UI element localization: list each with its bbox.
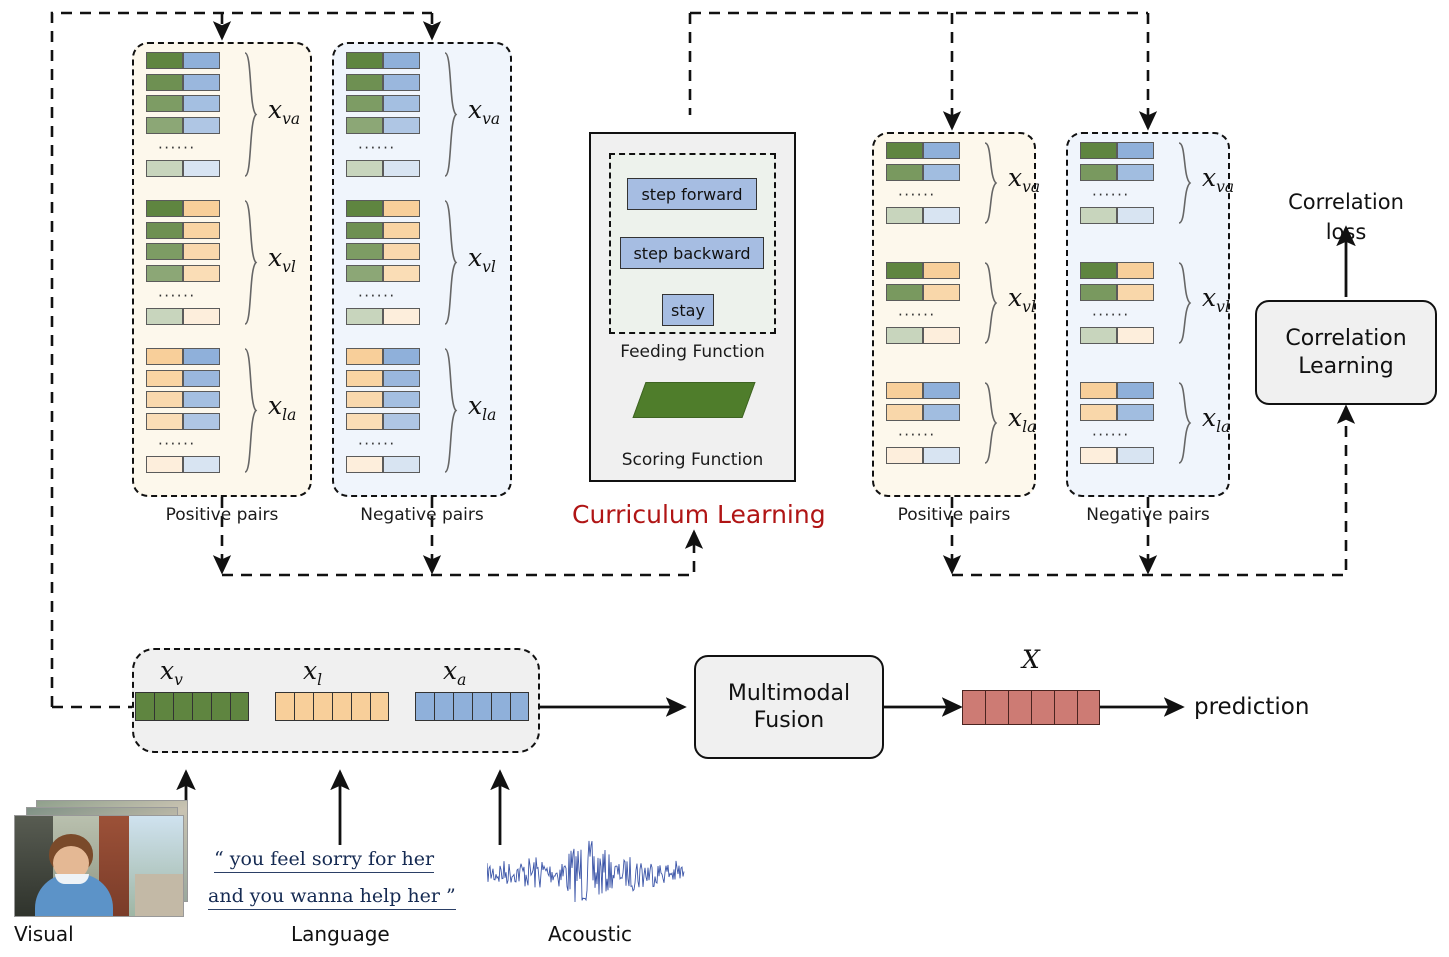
pair-cell [1080,284,1117,301]
correlation-learning-box[interactable]: Correlation Learning [1255,300,1437,405]
vector-cell [472,692,491,721]
feature-vector-xa[interactable] [415,692,529,721]
pair-cell [146,391,183,408]
pair-cell [183,456,220,473]
pair-cell [886,382,923,399]
group-brace [244,200,258,325]
pair-cell [183,74,220,91]
pair-row [346,391,420,408]
pair-cell [346,160,383,177]
pair-cell [923,447,960,464]
fused-vector-label: X [1022,645,1040,674]
waveform-svg [487,838,685,908]
pair-cell [383,243,420,260]
scoring-function-shape [632,382,755,418]
vector-cell [230,692,249,721]
pair-cell [1117,447,1154,464]
row-ellipsis: ······ [158,437,196,452]
vector-cell [192,692,211,721]
pair-cell [346,308,383,325]
pair-cell [1117,284,1154,301]
fused-vector-cell [1077,690,1100,725]
pair-row [346,52,420,69]
pair-cell [183,200,220,217]
pair-row [1080,164,1154,181]
pair-cell [146,160,183,177]
pair-cell [346,413,383,430]
pair-row [886,382,960,399]
pair-row-faded [886,327,960,344]
vector-cell [313,692,332,721]
pair-cell [383,117,420,134]
row-ellipsis: ······ [158,289,196,304]
vector-cell [135,692,154,721]
pair-cell [1117,142,1154,159]
pair-cell [1117,404,1154,421]
modality-label-la: xla [468,391,496,424]
pair-cell [1117,207,1154,224]
pair-cell [923,327,960,344]
pair-cell [183,160,220,177]
pair-row [886,284,960,301]
pair-row [146,200,220,217]
pair-row-faded [1080,447,1154,464]
modality-label-vl: xvl [1202,283,1230,316]
pair-cell [923,164,960,181]
pair-cell [383,413,420,430]
pair-cell [886,207,923,224]
step-backward-button[interactable]: step backward [620,237,764,269]
pair-row [1080,382,1154,399]
pair-row [346,95,420,112]
group-brace [1178,262,1192,344]
fused-vector-cell [1008,690,1031,725]
fused-vector-cell [985,690,1008,725]
pair-cell [183,391,220,408]
scoring-function-label: Scoring Function [589,450,796,470]
row-ellipsis: ······ [898,428,936,443]
group-brace [444,348,458,473]
correlation-learning-line2: Learning [1285,353,1406,381]
pair-cell [1080,382,1117,399]
pair-cell [146,95,183,112]
acoustic-waveform [487,838,685,908]
pair-cell [346,117,383,134]
pair-cell [923,284,960,301]
correlation-loss-line1: Correlation [1255,190,1437,214]
pair-cell [1117,327,1154,344]
pair-row-faded [1080,327,1154,344]
pair-row-faded [886,447,960,464]
correlation-learning-line1: Correlation [1285,325,1406,353]
curriculum-learning-title: Curriculum Learning [572,500,826,529]
vector-cell [491,692,510,721]
pair-cell [383,52,420,69]
pair-cell [886,327,923,344]
pair-cell [183,243,220,260]
group-brace [984,262,998,344]
multimodal-fusion-box[interactable]: Multimodal Fusion [694,655,884,759]
vector-cell [370,692,389,721]
pair-cell [146,52,183,69]
pair-row [146,243,220,260]
pair-cell [183,95,220,112]
pair-cell [146,413,183,430]
pair-row-faded [146,456,220,473]
acoustic-label: Acoustic [548,922,632,946]
pair-cell [383,74,420,91]
modality-label-va: xva [268,95,300,128]
pair-cell [346,391,383,408]
pair-row [346,117,420,134]
pair-cell [346,95,383,112]
pair-row [1080,262,1154,279]
row-ellipsis: ······ [1092,428,1130,443]
pair-cell [346,200,383,217]
vector-cell [154,692,173,721]
group-brace [244,348,258,473]
pair-cell [383,370,420,387]
vector-cell [294,692,313,721]
pair-row [346,370,420,387]
pair-cell [886,142,923,159]
pair-cell [346,74,383,91]
fused-vector-cell [1031,690,1054,725]
vector-cell [332,692,351,721]
modality-label-la: xla [268,391,296,424]
group-brace [444,200,458,325]
modality-label-vl: xvl [468,243,496,276]
group-brace [984,142,998,224]
pair-cell [1080,327,1117,344]
pair-row-faded [346,456,420,473]
row-ellipsis: ······ [1092,308,1130,323]
vector-cell [211,692,230,721]
pair-cell [346,52,383,69]
pair-cell [923,262,960,279]
feeding-function-label: Feeding Function [589,342,796,362]
pair-row [886,262,960,279]
pair-row [146,95,220,112]
vector-cell [510,692,529,721]
group-brace [244,52,258,177]
pair-cell [383,265,420,282]
correlation-loss-line2: loss [1255,220,1437,244]
modality-label-la: xla [1008,403,1036,436]
pair-cell [1080,262,1117,279]
pair-cell [346,243,383,260]
pair-row [1080,404,1154,421]
pair-row [146,265,220,282]
row-ellipsis: ······ [1092,188,1130,203]
pair-cell [183,52,220,69]
pair-row [146,222,220,239]
pair-cell [346,456,383,473]
pair-cell [1080,447,1117,464]
pair-row [886,164,960,181]
row-ellipsis: ······ [898,188,936,203]
pair-row [1080,142,1154,159]
modality-label-vl: xvl [1008,283,1036,316]
row-ellipsis: ······ [358,289,396,304]
pair-cell [346,222,383,239]
feature-vector-xv[interactable] [135,692,249,721]
language-label: Language [291,922,390,946]
step-forward-button[interactable]: step forward [627,178,757,210]
fusion-line2: Fusion [728,707,850,735]
visual-label: Visual [14,922,74,946]
pair-cell [1080,207,1117,224]
modality-label-va: xva [1202,163,1234,196]
vector-cell [351,692,370,721]
pair-cell [1080,164,1117,181]
pair-row [146,391,220,408]
pair-row [346,348,420,365]
visual-frame-front [14,815,184,917]
pair-cell [886,447,923,464]
row-ellipsis: ······ [358,141,396,156]
pair-cell [183,265,220,282]
pair-cell [346,348,383,365]
language-line2: and you wanna help her ” [208,885,456,910]
pair-cell [923,404,960,421]
pair-cell [146,74,183,91]
pair-row [146,117,220,134]
pair-row [1080,284,1154,301]
pair-cell [146,117,183,134]
group-brace [1178,142,1192,224]
group-brace [444,52,458,177]
pair-row [346,200,420,217]
feature-vector-xl[interactable] [275,692,389,721]
pair-cell [146,348,183,365]
pair-cell [923,207,960,224]
feature-label-xl: xl [303,656,322,689]
pair-row [146,52,220,69]
pair-cell [886,404,923,421]
group-brace [984,382,998,464]
pair-cell [383,160,420,177]
row-ellipsis: ······ [358,437,396,452]
pair-cell [886,284,923,301]
pair-cell [346,265,383,282]
pair-cell [886,164,923,181]
pair-row [346,243,420,260]
modality-label-vl: xvl [268,243,296,276]
pair-cell [383,200,420,217]
pair-row [146,370,220,387]
pair-cell [183,222,220,239]
pair-row [146,413,220,430]
prediction-label: prediction [1194,694,1309,720]
pair-row [346,222,420,239]
group-brace [1178,382,1192,464]
pair-cell [146,243,183,260]
vector-cell [173,692,192,721]
pair-cell [1117,262,1154,279]
pair-row [346,74,420,91]
pair-cell [146,456,183,473]
pair-row-faded [346,160,420,177]
row-ellipsis: ······ [158,141,196,156]
pair-row-faded [1080,207,1154,224]
pair-row [146,348,220,365]
modality-label-la: xla [1202,403,1230,436]
pair-row-faded [146,308,220,325]
pair-cell [383,308,420,325]
modality-label-va: xva [468,95,500,128]
pair-row [886,404,960,421]
pair-cell [146,308,183,325]
pair-cell [146,370,183,387]
fusion-line1: Multimodal [728,680,850,708]
vector-cell [453,692,472,721]
pair-cell [383,456,420,473]
pair-cell [383,391,420,408]
pair-cell [183,370,220,387]
fused-vector-cell [1054,690,1077,725]
pair-row-faded [146,160,220,177]
pair-row-faded [886,207,960,224]
pair-row [346,413,420,430]
pair-cell [346,370,383,387]
row-ellipsis: ······ [898,308,936,323]
pair-cell [146,222,183,239]
modality-label-va: xva [1008,163,1040,196]
pair-cell [1117,164,1154,181]
fused-vector[interactable] [962,690,1100,725]
visual-frame-stack[interactable] [8,800,188,915]
pair-cell [383,95,420,112]
pair-cell [146,265,183,282]
pair-cell [923,382,960,399]
pair-cell [183,117,220,134]
pair-cell [886,262,923,279]
pair-cell [383,348,420,365]
pair-row [146,74,220,91]
pair-cell [183,348,220,365]
pair-cell [1080,142,1117,159]
pair-row [886,142,960,159]
vector-cell [434,692,453,721]
pair-cell [923,142,960,159]
pair-cell [1117,382,1154,399]
pair-cell [1080,404,1117,421]
pair-cell [383,222,420,239]
pair-row-faded [346,308,420,325]
pair-cell [183,308,220,325]
pair-cell [146,200,183,217]
fused-vector-cell [962,690,985,725]
stay-button[interactable]: stay [662,294,714,326]
vector-cell [415,692,434,721]
pair-cell [183,413,220,430]
vector-cell [275,692,294,721]
feature-label-xv: xv [160,656,183,689]
language-line1: “ you feel sorry for her [214,848,434,873]
pair-row [346,265,420,282]
feature-label-xa: xa [443,656,466,689]
